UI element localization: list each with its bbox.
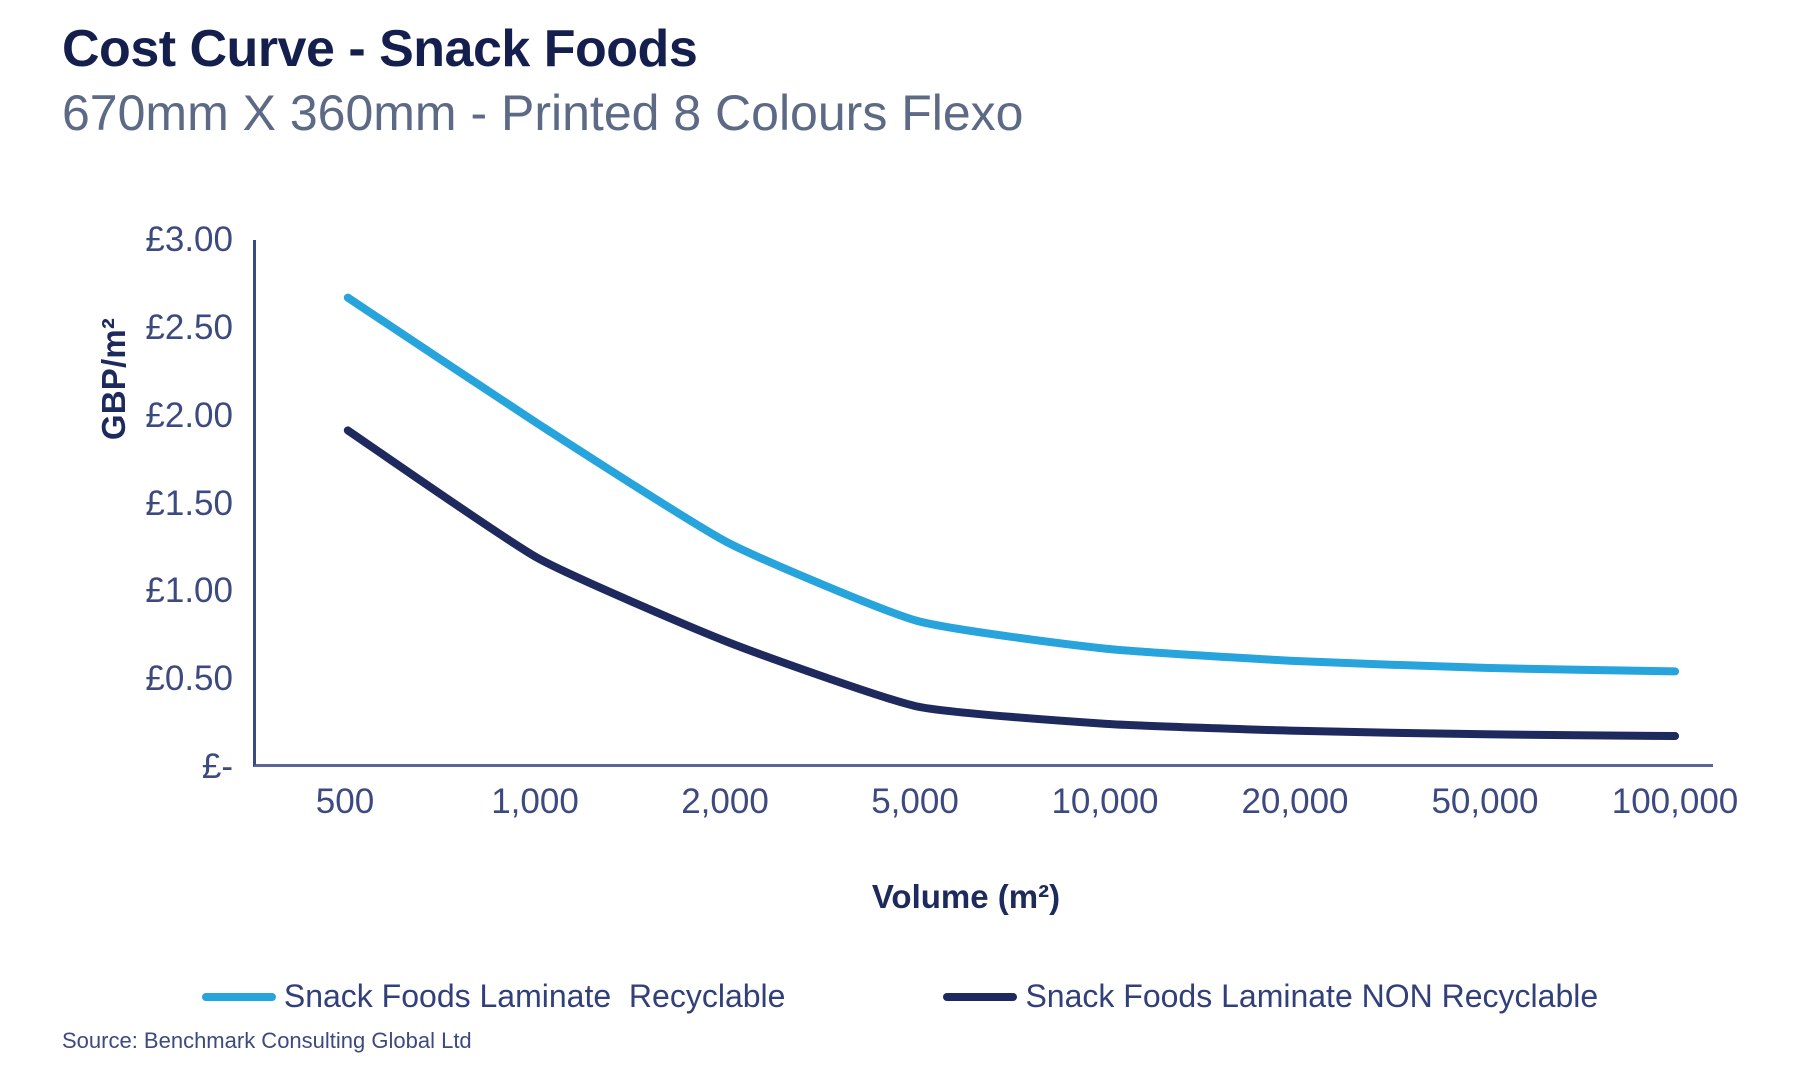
legend-label: Snack Foods Laminate NON Recyclable xyxy=(1025,978,1598,1015)
y-axis-tick-label: £- xyxy=(33,747,233,787)
y-axis-tick-label: £0.50 xyxy=(33,659,233,699)
legend-item-recyclable[interactable]: Snack Foods Laminate Recyclable xyxy=(202,978,786,1015)
plot-area xyxy=(253,240,1713,767)
chart-subtitle: 670mm X 360mm - Printed 8 Colours Flexo xyxy=(62,85,1562,143)
series-line-recyclable xyxy=(348,298,1675,672)
title-block: Cost Curve - Snack Foods 670mm X 360mm -… xyxy=(62,22,1562,142)
y-axis-tick-label: £1.50 xyxy=(33,484,233,524)
legend-label: Snack Foods Laminate Recyclable xyxy=(284,978,786,1015)
y-axis-title: GBP/m² xyxy=(95,259,133,499)
series-lines xyxy=(256,240,1713,764)
series-line-non-recyclable xyxy=(348,430,1675,736)
source-note: Source: Benchmark Consulting Global Ltd xyxy=(62,1028,472,1054)
y-axis-tick-label: £3.00 xyxy=(33,220,233,260)
legend-swatch-icon xyxy=(943,993,1017,1001)
x-axis-title: Volume (m²) xyxy=(0,878,1800,916)
legend-swatch-icon xyxy=(202,993,276,1001)
chart-title: Cost Curve - Snack Foods xyxy=(62,22,1562,77)
x-axis-title-text: Volume (m²) xyxy=(872,878,1060,916)
x-axis-tick-label: 100,000 xyxy=(1555,782,1795,822)
y-axis-tick-label: £1.00 xyxy=(33,571,233,611)
y-axis-tick-label: £2.00 xyxy=(33,396,233,436)
cost-curve-chart: Cost Curve - Snack Foods 670mm X 360mm -… xyxy=(0,0,1800,1080)
y-axis-tick-label: £2.50 xyxy=(33,308,233,348)
legend-item-non-recyclable[interactable]: Snack Foods Laminate NON Recyclable xyxy=(943,978,1598,1015)
legend: Snack Foods Laminate RecyclableSnack Foo… xyxy=(0,978,1800,1015)
